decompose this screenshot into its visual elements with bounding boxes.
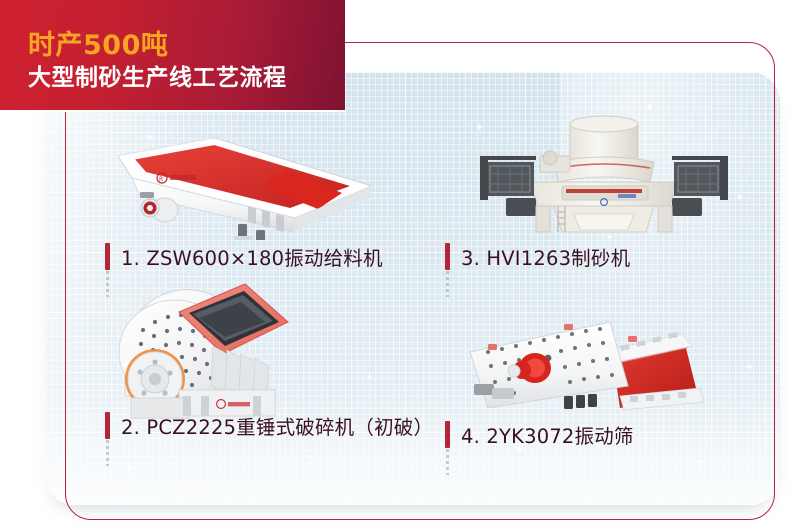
header-banner: 时产500吨 大型制砂生产线工艺流程 xyxy=(0,0,345,110)
equipment-item-2[interactable]: 2. PCZ2225重锤式破碎机（初破） xyxy=(95,278,405,453)
label-marker-bar xyxy=(445,243,450,270)
equipment-label-text-3: 3. HVI1263制砂机 xyxy=(461,242,630,271)
label-dotted-line xyxy=(446,271,449,297)
equipment-label-1: 1. ZSW600×180振动给料机 xyxy=(105,242,383,271)
label-dotted-line xyxy=(106,440,109,466)
label-dotted-line xyxy=(446,449,449,475)
banner-title-sub: 大型制砂生产线工艺流程 xyxy=(28,58,287,92)
vibrating-screen-icon xyxy=(460,300,750,425)
svg-text:R: R xyxy=(159,176,163,183)
equipment-label-text-2: 2. PCZ2225重锤式破碎机（初破） xyxy=(121,411,433,440)
label-marker-bar xyxy=(105,412,110,439)
equipment-label-2: 2. PCZ2225重锤式破碎机（初破） xyxy=(105,411,433,440)
vibrating-feeder-icon: R xyxy=(110,120,395,240)
hammer-crusher-icon xyxy=(113,278,363,423)
equipment-item-4[interactable]: 4. 2YK3072振动筛 xyxy=(445,300,765,450)
equipment-label-text-1: 1. ZSW600×180振动给料机 xyxy=(121,242,383,271)
equipment-label-text-4: 4. 2YK3072振动筛 xyxy=(461,420,634,449)
equipment-label-4: 4. 2YK3072振动筛 xyxy=(445,420,634,449)
vsi-sand-maker-icon xyxy=(470,110,740,235)
equipment-item-1[interactable]: R 1. ZSW600×180振动给料机 xyxy=(95,120,405,270)
banner-title-main: 时产500吨 xyxy=(28,23,168,62)
equipment-label-3: 3. HVI1263制砂机 xyxy=(445,242,630,271)
label-marker-bar xyxy=(105,243,110,270)
poster-canvas: ✦ ✦ ✦ ✦ ✦ ✦ ✦ ✦ ✦ ✦ ✦ ✦ ✦ ✦ ✦ ✦ 时产500吨 大… xyxy=(0,0,800,530)
equipment-item-3[interactable]: 3. HVI1263制砂机 xyxy=(445,110,765,270)
label-marker-bar xyxy=(445,421,450,448)
